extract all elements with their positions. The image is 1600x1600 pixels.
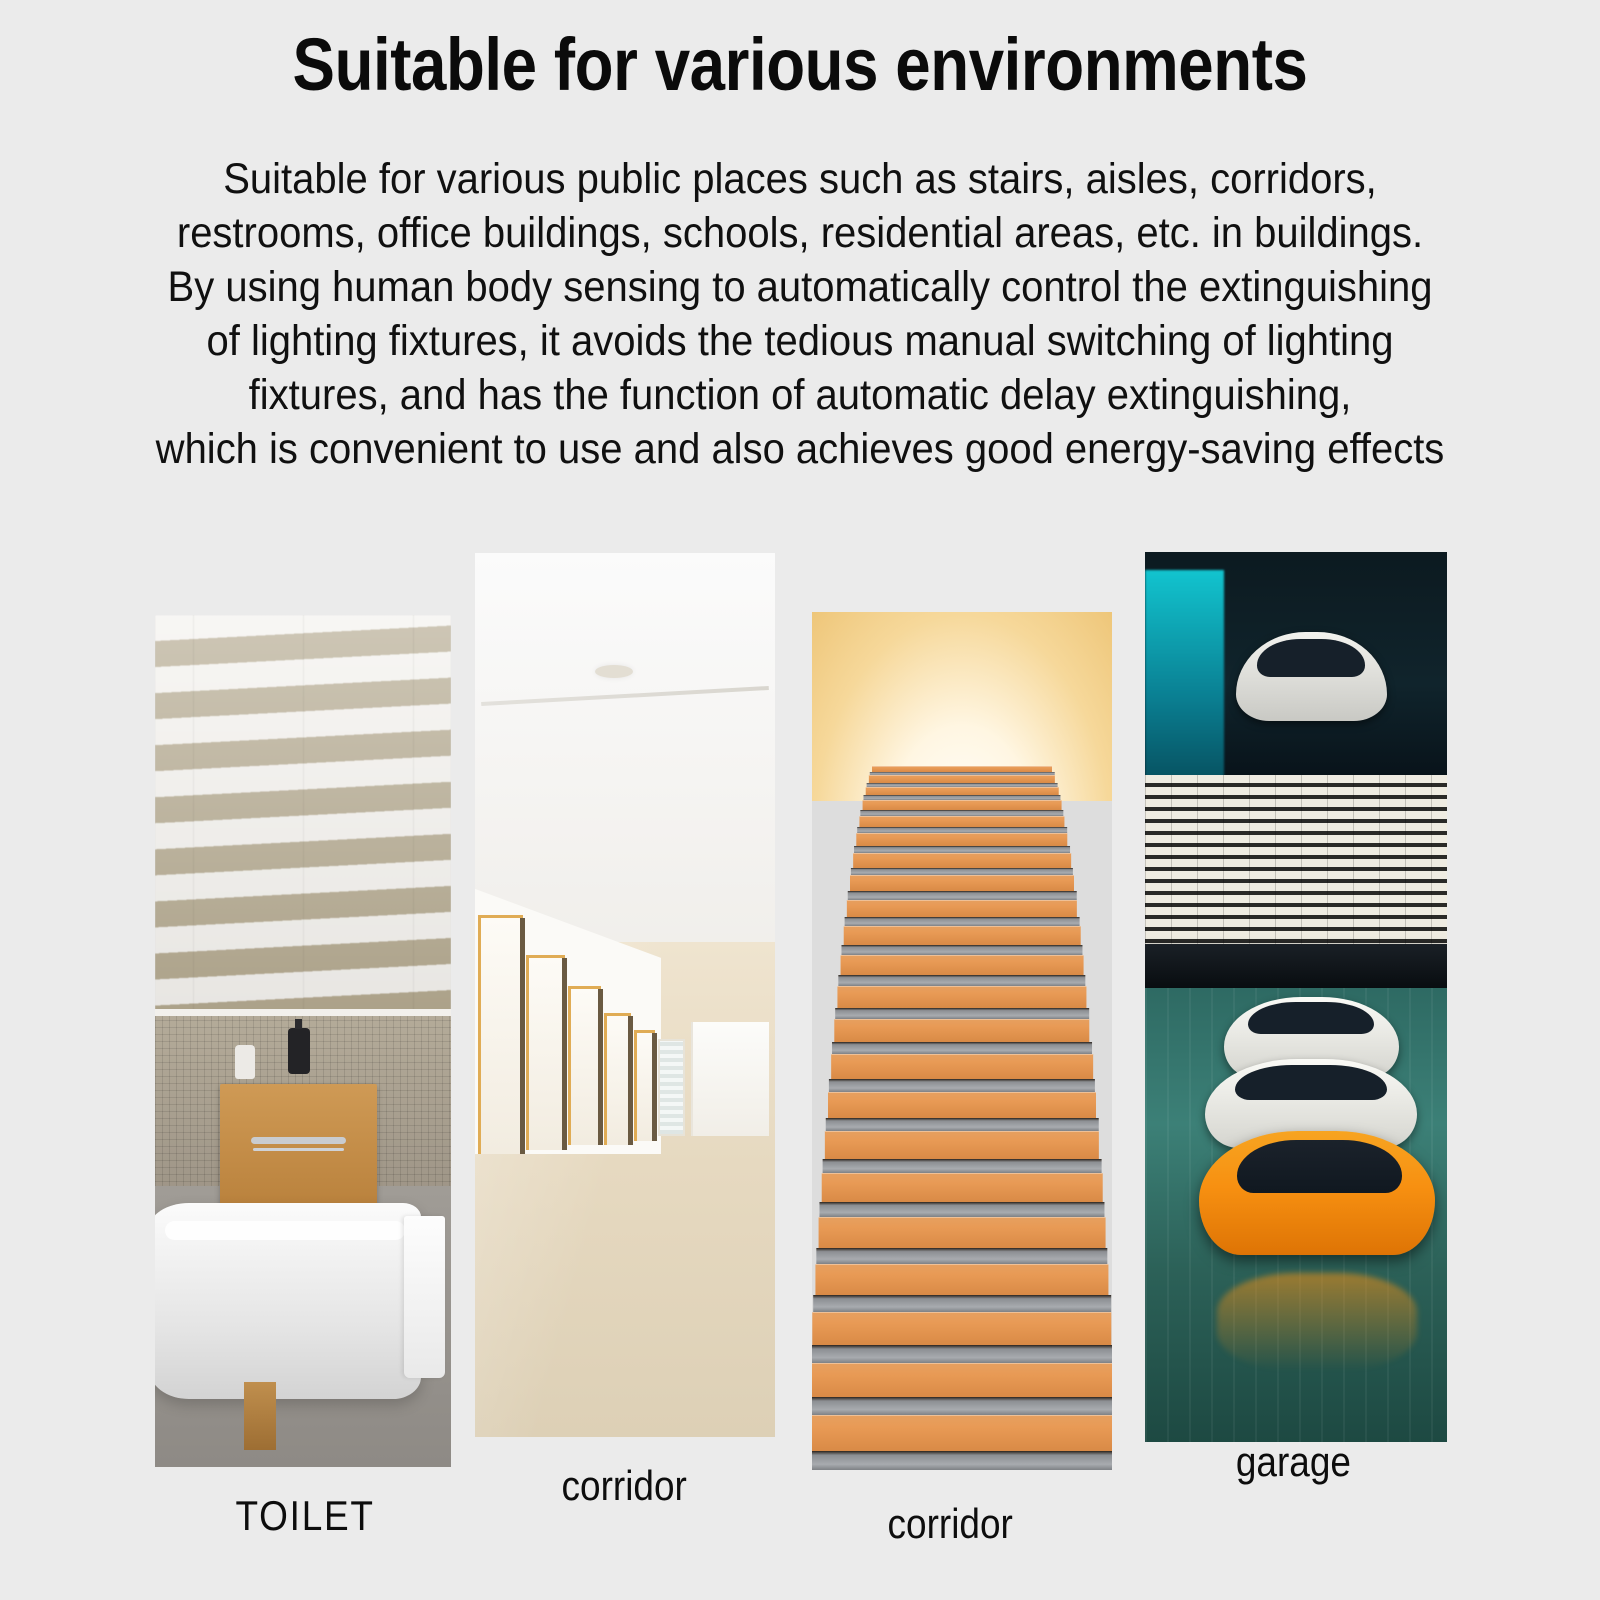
corridor-door [478,915,523,1154]
garage-teal-light [1145,570,1224,784]
caption-toilet: TOILET [235,1492,374,1540]
staircase-steps [812,766,1112,1470]
gallery-image-staircase [812,612,1112,1470]
stair-tread [828,1092,1096,1118]
stair-tread [837,986,1086,1008]
white-towel [404,1216,445,1378]
bathtub-wooden-foot [244,1382,277,1450]
stair-tread [819,1217,1106,1247]
white-bottle [235,1045,255,1079]
stair-riser [813,1295,1111,1312]
garage-parking-deck [1145,775,1447,944]
stair-tread [831,1054,1093,1079]
stair-tread [859,816,1064,828]
description-line: which is convenient to use and also achi… [93,422,1507,476]
stair-riser [845,917,1080,926]
stair-riser [848,891,1077,899]
stair-tread [863,800,1062,810]
stair-riser [826,1118,1099,1132]
corridor-door [604,1013,631,1146]
stair-riser [812,1451,1112,1470]
stair-tread [853,853,1071,868]
caption-garage: garage [1236,1438,1351,1486]
garage-orange-sports-car [1199,1131,1435,1256]
description-line: restrooms, office buildings, schools, re… [93,206,1507,260]
garage-floor-reflection [1217,1273,1416,1371]
caption-staircase: corridor [888,1500,1013,1548]
dark-bottle [288,1028,310,1074]
stair-riser [835,1008,1089,1019]
corridor-glass-panel [658,1039,685,1136]
stair-riser [829,1079,1095,1092]
gallery-image-corridor-office [475,553,775,1437]
corridor-door [568,986,601,1145]
stair-tread [815,1264,1108,1296]
gallery-image-garage [1145,552,1447,1442]
stair-riser [838,975,1085,986]
stair-tread [825,1131,1099,1158]
caption-corridor-office: corridor [562,1462,687,1510]
stair-riser [851,868,1073,876]
stair-riser [812,1345,1112,1362]
stair-riser [841,945,1082,955]
stair-riser [823,1159,1102,1173]
corridor-door [526,955,565,1149]
stair-tread [847,900,1077,917]
description-line: Suitable for various public places such … [93,152,1507,206]
bathtub [155,1203,421,1399]
stair-riser [832,1042,1092,1054]
page-title: Suitable for various environments [112,26,1488,104]
stair-tread [844,926,1081,945]
description-line: of lighting fixtures, it avoids the tedi… [93,314,1507,368]
description-line: fixtures, and has the function of automa… [93,368,1507,422]
stair-tread [812,1363,1112,1398]
stair-tread [866,787,1059,796]
stair-riser [854,846,1070,853]
stair-tread [856,833,1067,846]
corridor-far-end-wall [691,1022,769,1137]
stair-tread [812,1312,1111,1345]
bathroom-wooden-vanity [220,1084,377,1212]
stair-riser [812,1397,1112,1415]
stair-tread [850,875,1074,891]
page-description: Suitable for various public places such … [93,152,1507,476]
stair-tread [869,775,1055,782]
stair-tread [822,1173,1103,1202]
stair-riser [819,1202,1104,1217]
stair-tread [834,1019,1089,1042]
gallery-image-toilet [155,615,451,1467]
bathroom-striped-wall [155,615,451,1024]
description-line: By using human body sensing to automatic… [93,260,1507,314]
stair-riser [816,1248,1107,1264]
corridor-door [634,1030,655,1141]
stair-tread [812,1415,1112,1451]
stair-tread [841,955,1084,975]
